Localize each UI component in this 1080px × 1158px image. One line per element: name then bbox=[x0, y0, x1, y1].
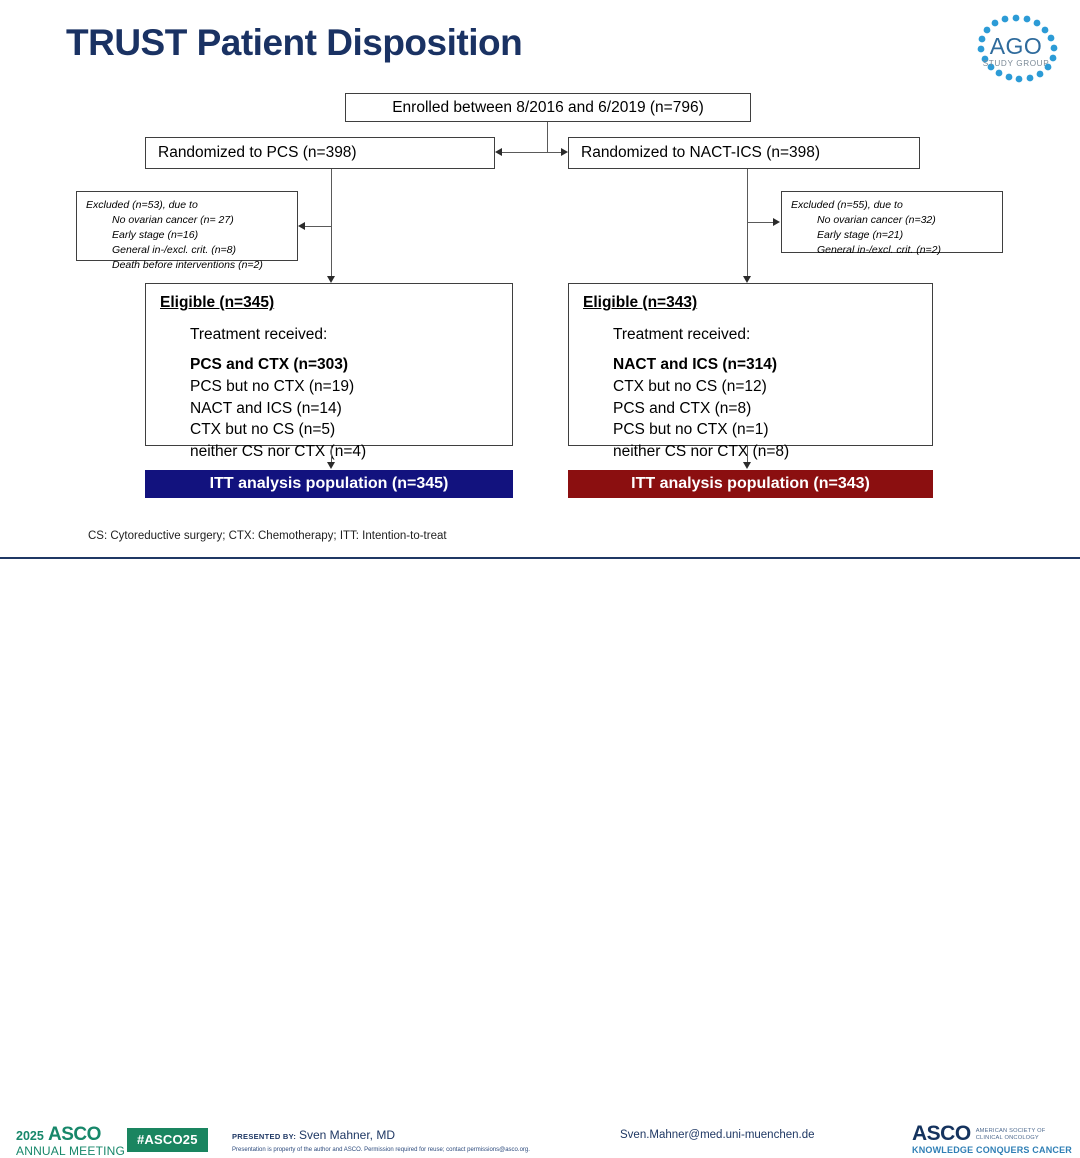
meeting-brand: ASCO bbox=[48, 1124, 101, 1145]
randomized-pcs-box: Randomized to PCS (n=398) bbox=[145, 137, 495, 169]
enrolled-label: Enrolled between 8/2016 and 6/2019 (n=79… bbox=[392, 99, 704, 116]
abbreviations-footnote: CS: Cytoreductive surgery; CTX: Chemothe… bbox=[88, 530, 447, 542]
excluded-left-reason: Death before interventions (n=2) bbox=[86, 258, 289, 273]
itt-left-bar: ITT analysis population (n=345) bbox=[145, 470, 513, 498]
connector-pcs-to-excluded bbox=[303, 226, 332, 227]
asco-annual-meeting-logo: 2025 ASCO ANNUAL MEETING bbox=[16, 1125, 125, 1158]
eligible-left-item: CTX but no CS (n=5) bbox=[190, 419, 502, 441]
presented-by-block: PRESENTED BY: Sven Mahner, MD Presentati… bbox=[232, 1128, 530, 1153]
excluded-left-heading: Excluded (n=53), due to bbox=[86, 198, 289, 213]
eligible-left-item: NACT and ICS (n=14) bbox=[190, 398, 502, 420]
arrow-to-excluded-right bbox=[773, 218, 780, 226]
eligible-left-item: PCS but no CTX (n=19) bbox=[190, 376, 502, 398]
asco-tagline-line2: CLINICAL ONCOLOGY bbox=[976, 1135, 1039, 1141]
eligible-right-item: NACT and ICS (n=314) bbox=[613, 354, 922, 376]
connector-split-left bbox=[500, 152, 548, 153]
presenter-name: Sven Mahner, MD bbox=[299, 1128, 395, 1142]
excluded-right-reason: No ovarian cancer (n=32) bbox=[791, 213, 994, 228]
asco-society-logo: ASCO AMERICAN SOCIETY OF CLINICAL ONCOLO… bbox=[912, 1124, 1072, 1155]
excluded-right-heading: Excluded (n=55), due to bbox=[791, 198, 994, 213]
eligible-right-heading: Eligible (n=343) bbox=[583, 292, 922, 314]
excluded-left-box: Excluded (n=53), due to No ovarian cance… bbox=[76, 191, 298, 261]
asco-tagline: AMERICAN SOCIETY OF CLINICAL ONCOLOGY bbox=[976, 1128, 1046, 1144]
eligible-right-item: PCS but no CTX (n=1) bbox=[613, 419, 922, 441]
presenter-email: Sven.Mahner@med.uni-muenchen.de bbox=[620, 1129, 815, 1141]
permission-notice: Presentation is property of the author a… bbox=[232, 1147, 530, 1153]
eligible-right-treatment-label: Treatment received: bbox=[583, 324, 922, 346]
presented-by-label: PRESENTED BY: bbox=[232, 1132, 296, 1141]
eligible-right-item: neither CS nor CTX (n=8) bbox=[613, 441, 922, 463]
slide-footer: 2025 ASCO ANNUAL MEETING #ASCO25 PRESENT… bbox=[0, 559, 1080, 608]
itt-right-bar: ITT analysis population (n=343) bbox=[568, 470, 933, 498]
asco-tagline-line1: AMERICAN SOCIETY OF bbox=[976, 1128, 1046, 1134]
arrow-to-randomized-nact bbox=[561, 148, 568, 156]
excluded-left-reason: Early stage (n=16) bbox=[86, 228, 289, 243]
eligible-right-item: PCS and CTX (n=8) bbox=[613, 398, 922, 420]
connector-eligible-right-down bbox=[747, 446, 748, 463]
asco-slogan: KNOWLEDGE CONQUERS CANCER bbox=[912, 1145, 1072, 1155]
excluded-right-reason: General in-/excl. crit. (n=2) bbox=[791, 243, 994, 258]
itt-right-label: ITT analysis population (n=343) bbox=[631, 475, 870, 492]
patient-disposition-flowchart: Enrolled between 8/2016 and 6/2019 (n=79… bbox=[0, 0, 1080, 560]
eligible-left-box: Eligible (n=345) Treatment received: PCS… bbox=[145, 283, 513, 446]
enrolled-box: Enrolled between 8/2016 and 6/2019 (n=79… bbox=[345, 93, 751, 122]
connector-pcs-down bbox=[331, 169, 332, 276]
eligible-left-treatment-label: Treatment received: bbox=[160, 324, 502, 346]
randomized-pcs-label: Randomized to PCS (n=398) bbox=[158, 144, 357, 161]
connector-eligible-left-down bbox=[331, 446, 332, 463]
arrow-to-randomized-pcs bbox=[495, 148, 502, 156]
itt-left-label: ITT analysis population (n=345) bbox=[210, 475, 449, 492]
eligible-left-heading: Eligible (n=345) bbox=[160, 292, 502, 314]
connector-enrolled-down bbox=[547, 122, 548, 153]
eligible-left-item: neither CS nor CTX (n=4) bbox=[190, 441, 502, 463]
excluded-left-reason: General in-/excl. crit. (n=8) bbox=[86, 243, 289, 258]
eligible-left-item: PCS and CTX (n=303) bbox=[190, 354, 502, 376]
meeting-year: 2025 bbox=[16, 1129, 44, 1143]
meeting-subtitle: ANNUAL MEETING bbox=[16, 1145, 125, 1158]
connector-nact-to-excluded bbox=[748, 222, 774, 223]
randomized-nact-box: Randomized to NACT-ICS (n=398) bbox=[568, 137, 920, 169]
arrow-to-excluded-left bbox=[298, 222, 305, 230]
arrow-to-itt-right bbox=[743, 462, 751, 469]
hashtag-badge: #ASCO25 bbox=[127, 1128, 208, 1152]
excluded-right-reason: Early stage (n=21) bbox=[791, 228, 994, 243]
randomized-nact-label: Randomized to NACT-ICS (n=398) bbox=[581, 144, 820, 161]
excluded-right-box: Excluded (n=55), due to No ovarian cance… bbox=[781, 191, 1003, 253]
arrow-to-eligible-right bbox=[743, 276, 751, 283]
eligible-right-item: CTX but no CS (n=12) bbox=[613, 376, 922, 398]
eligible-right-box: Eligible (n=343) Treatment received: NAC… bbox=[568, 283, 933, 446]
arrow-to-itt-left bbox=[327, 462, 335, 469]
arrow-to-eligible-left bbox=[327, 276, 335, 283]
excluded-left-reason: No ovarian cancer (n= 27) bbox=[86, 213, 289, 228]
asco-wordmark: ASCO bbox=[912, 1124, 971, 1144]
